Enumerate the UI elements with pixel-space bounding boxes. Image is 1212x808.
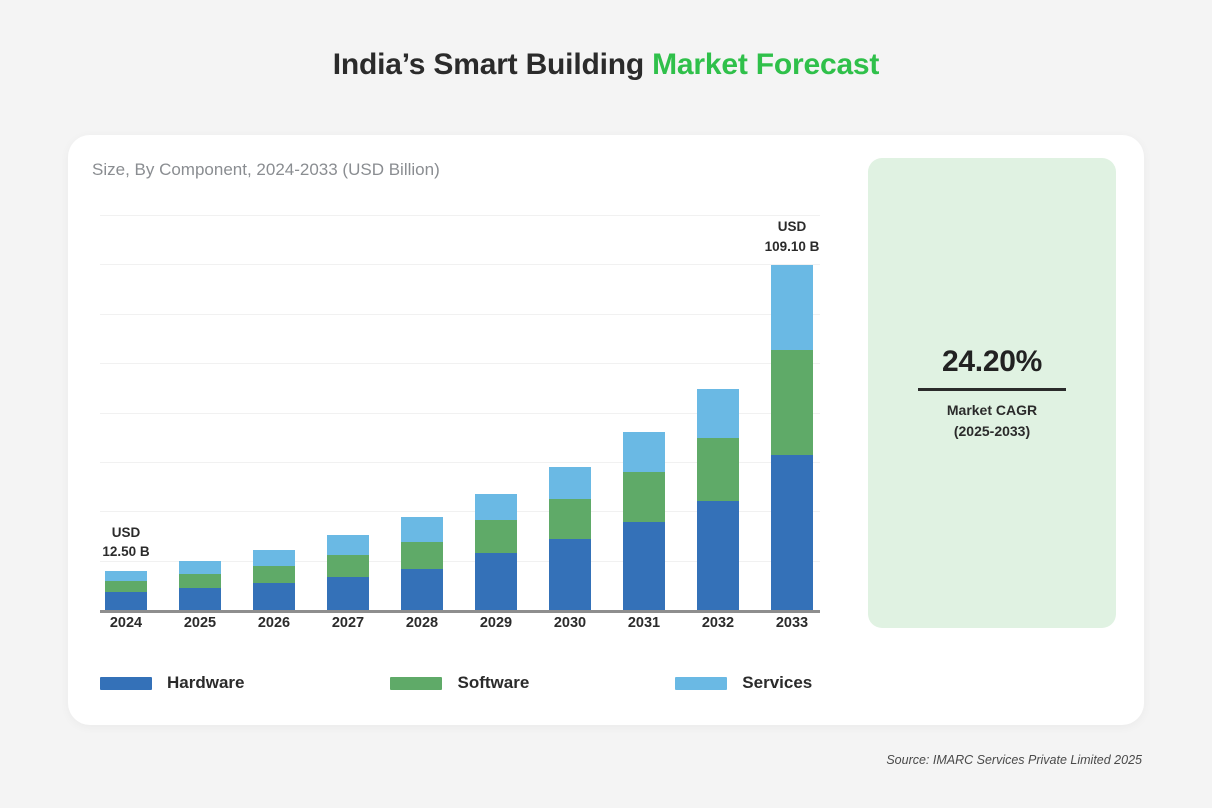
x-axis-label-2033: 2033	[762, 615, 822, 631]
bar-group[interactable]	[327, 535, 369, 610]
bar-group[interactable]	[697, 389, 739, 610]
bar-segment-services[interactable]	[623, 432, 665, 472]
callout-value: 12.50 B	[71, 542, 181, 562]
bar-segment-software[interactable]	[475, 520, 517, 553]
cagr-panel: 24.20% Market CAGR (2025-2033)	[868, 158, 1116, 628]
bar-segment-software[interactable]	[179, 574, 221, 588]
chart-page: India’s Smart Building Market Forecast S…	[0, 0, 1212, 808]
bar-segment-services[interactable]	[771, 265, 813, 349]
cagr-value: 24.20%	[942, 345, 1042, 379]
x-axis-label-2024: 2024	[96, 615, 156, 631]
callout-unit: USD	[71, 523, 181, 543]
cagr-caption-line1: Market CAGR	[947, 400, 1037, 420]
x-axis-label-2032: 2032	[688, 615, 748, 631]
bar-group[interactable]	[105, 571, 147, 610]
x-axis-label-2028: 2028	[392, 615, 452, 631]
bar-segment-services[interactable]	[697, 389, 739, 439]
bar-segment-software[interactable]	[253, 566, 295, 584]
callout-unit: USD	[737, 217, 847, 237]
x-axis-labels: 2024202520262027202820292030203120322033	[100, 615, 820, 639]
page-title-primary: India’s Smart Building	[333, 48, 652, 81]
bar-segment-hardware[interactable]	[475, 553, 517, 610]
legend-label-software: Software	[457, 673, 529, 693]
bar-group[interactable]	[623, 432, 665, 610]
x-axis-label-2027: 2027	[318, 615, 378, 631]
x-axis-label-2031: 2031	[614, 615, 674, 631]
bar-segment-software[interactable]	[771, 350, 813, 456]
bar-segment-hardware[interactable]	[697, 501, 739, 610]
chart-subtitle: Size, By Component, 2024-2033 (USD Billi…	[92, 160, 440, 180]
bar-segment-services[interactable]	[401, 517, 443, 542]
cagr-caption-line2: (2025-2033)	[947, 421, 1037, 441]
value-callout-2024: USD12.50 B	[71, 523, 181, 562]
legend-item-software[interactable]: Software	[390, 673, 529, 693]
bar-group[interactable]	[179, 561, 221, 610]
bar-segment-hardware[interactable]	[179, 588, 221, 610]
legend-label-hardware: Hardware	[167, 673, 244, 693]
source-note: Source: IMARC Services Private Limited 2…	[886, 753, 1142, 767]
bar-segment-software[interactable]	[327, 555, 369, 577]
bar-segment-software[interactable]	[401, 542, 443, 569]
legend-item-services[interactable]: Services	[675, 673, 812, 693]
page-title-accent: Market Forecast	[652, 48, 879, 81]
legend-swatch-hardware	[100, 677, 152, 690]
bar-segment-services[interactable]	[105, 571, 147, 581]
bar-segment-software[interactable]	[549, 499, 591, 539]
cagr-divider	[918, 388, 1066, 391]
bar-group[interactable]	[253, 550, 295, 610]
bar-segment-services[interactable]	[253, 550, 295, 566]
bar-segment-hardware[interactable]	[623, 522, 665, 610]
bar-segment-hardware[interactable]	[105, 592, 147, 610]
legend-swatch-software	[390, 677, 442, 690]
legend-item-hardware[interactable]: Hardware	[100, 673, 244, 693]
bar-segment-services[interactable]	[327, 535, 369, 555]
legend-label-services: Services	[742, 673, 812, 693]
x-axis-label-2029: 2029	[466, 615, 526, 631]
bar-segment-services[interactable]	[475, 494, 517, 520]
x-axis-label-2025: 2025	[170, 615, 230, 631]
callout-value: 109.10 B	[737, 237, 847, 257]
cagr-caption: Market CAGR (2025-2033)	[947, 400, 1037, 441]
page-title: India’s Smart Building Market Forecast	[0, 48, 1212, 82]
bar-segment-software[interactable]	[697, 438, 739, 500]
chart-legend: HardwareSoftwareServices	[100, 673, 812, 693]
value-callout-2033: USD109.10 B	[737, 217, 847, 256]
bar-segment-services[interactable]	[179, 561, 221, 574]
bar-segment-hardware[interactable]	[253, 583, 295, 610]
bar-group[interactable]	[401, 517, 443, 610]
x-axis-label-2026: 2026	[244, 615, 304, 631]
x-axis-baseline	[100, 610, 820, 613]
bar-segment-services[interactable]	[549, 467, 591, 499]
bar-segment-software[interactable]	[105, 581, 147, 593]
bar-series-container	[100, 215, 820, 610]
bar-segment-software[interactable]	[623, 472, 665, 522]
legend-swatch-services	[675, 677, 727, 690]
bar-segment-hardware[interactable]	[401, 569, 443, 610]
bar-group[interactable]	[475, 494, 517, 610]
bar-group[interactable]	[771, 265, 813, 610]
bar-group[interactable]	[549, 467, 591, 610]
plot-area	[100, 215, 820, 610]
bar-segment-hardware[interactable]	[771, 455, 813, 610]
bar-segment-hardware[interactable]	[549, 539, 591, 610]
x-axis-label-2030: 2030	[540, 615, 600, 631]
bar-segment-hardware[interactable]	[327, 577, 369, 610]
